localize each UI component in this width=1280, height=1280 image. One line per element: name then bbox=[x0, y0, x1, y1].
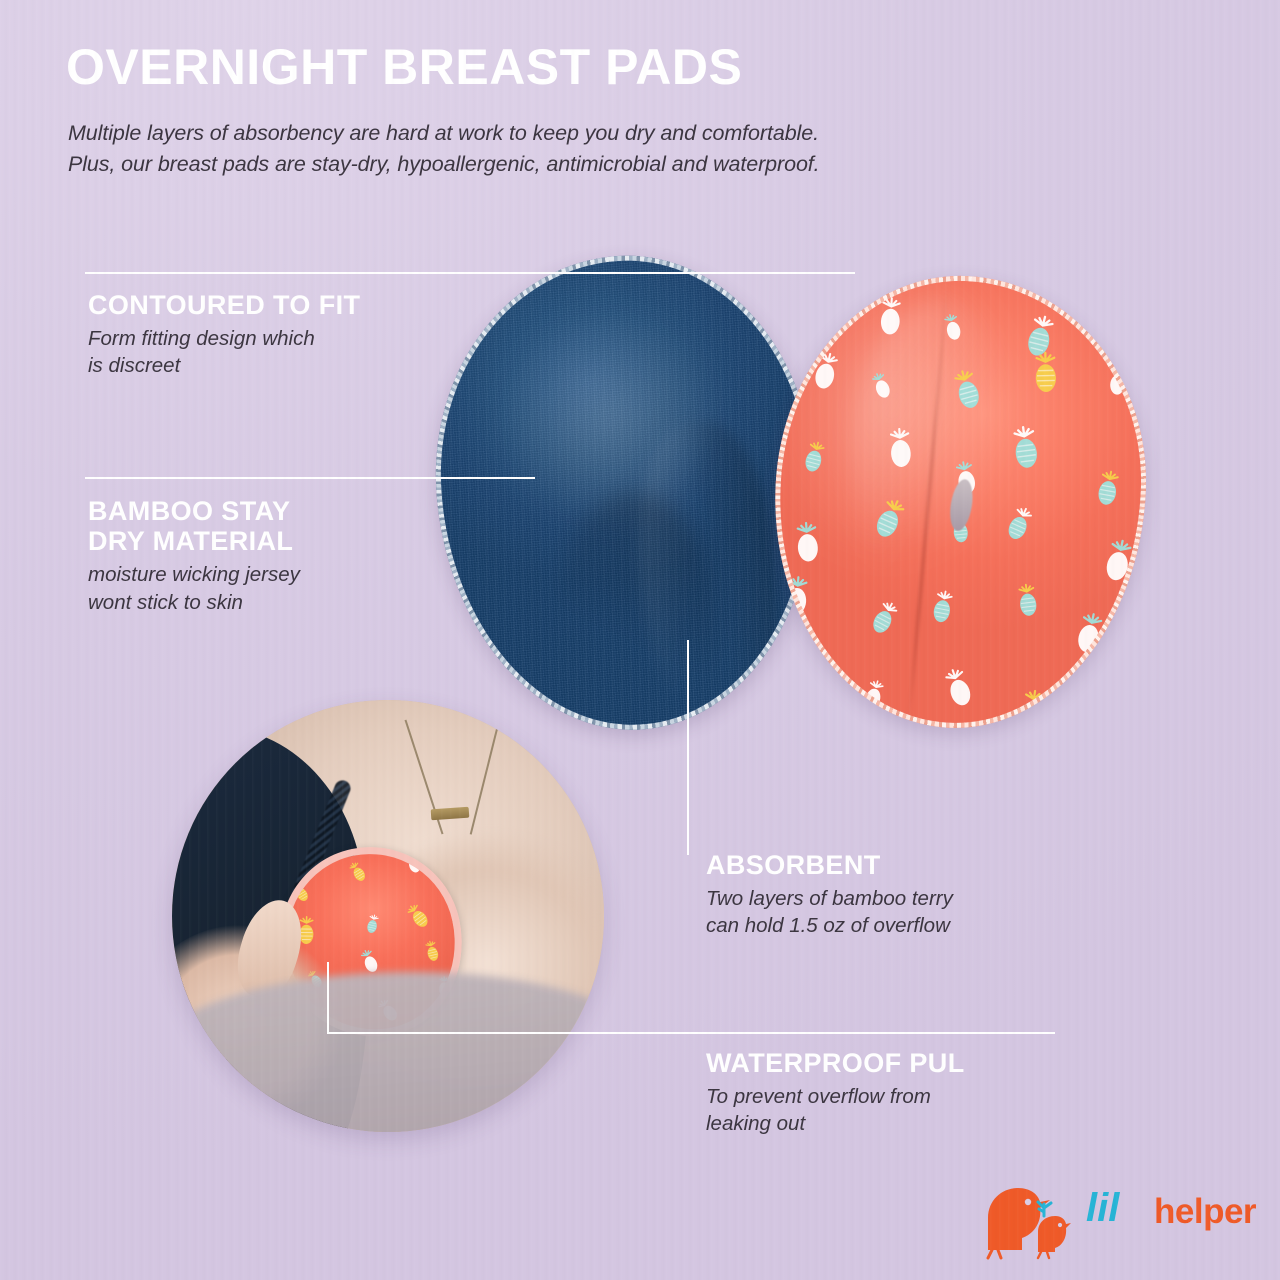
callout-heading: WATERPROOF PUL bbox=[706, 1048, 1126, 1078]
callout-absorbent: ABSORBENT Two layers of bamboo terry can… bbox=[706, 850, 1126, 939]
callout-heading: CONTOURED TO FIT bbox=[88, 290, 488, 320]
leader-waterproof-vertical bbox=[327, 962, 329, 1034]
callout-body: moisture wicking jersey wont stick to sk… bbox=[88, 561, 488, 615]
infographic-canvas: OVERNIGHT BREAST PADS Multiple layers of… bbox=[0, 0, 1280, 1280]
callout-body: Two layers of bamboo terry can hold 1.5 … bbox=[706, 885, 1126, 939]
callout-body: To prevent overflow from leaking out bbox=[706, 1083, 1126, 1137]
blanket bbox=[172, 972, 604, 1132]
callout-heading: BAMBOO STAY DRY MATERIAL bbox=[88, 496, 488, 556]
leader-absorbent-vertical bbox=[687, 640, 689, 855]
callout-bamboo-stay-dry-material: BAMBOO STAY DRY MATERIAL moisture wickin… bbox=[88, 496, 488, 616]
brand-logo[interactable]: lil helper bbox=[968, 1178, 1226, 1260]
callout-contoured-to-fit: CONTOURED TO FIT Form fitting design whi… bbox=[88, 290, 488, 379]
rule-contoured-to-fit bbox=[85, 272, 855, 274]
two-birds-icon bbox=[968, 1178, 1086, 1260]
logo-text-helper: helper bbox=[1154, 1192, 1256, 1232]
rule-bamboo-stay-dry bbox=[85, 477, 425, 479]
callout-waterproof-pul: WATERPROOF PUL To prevent overflow from … bbox=[706, 1048, 1126, 1137]
leader-waterproof-horizontal bbox=[327, 1032, 1055, 1034]
callout-heading: ABSORBENT bbox=[706, 850, 1126, 880]
leader-bamboo-to-pad bbox=[425, 477, 535, 479]
logo-text-lil: lil bbox=[1086, 1186, 1119, 1231]
lifestyle-photo-circle bbox=[172, 700, 604, 1132]
coral-breast-pad-photo bbox=[763, 267, 1156, 738]
callout-body: Form fitting design which is discreet bbox=[88, 325, 488, 379]
